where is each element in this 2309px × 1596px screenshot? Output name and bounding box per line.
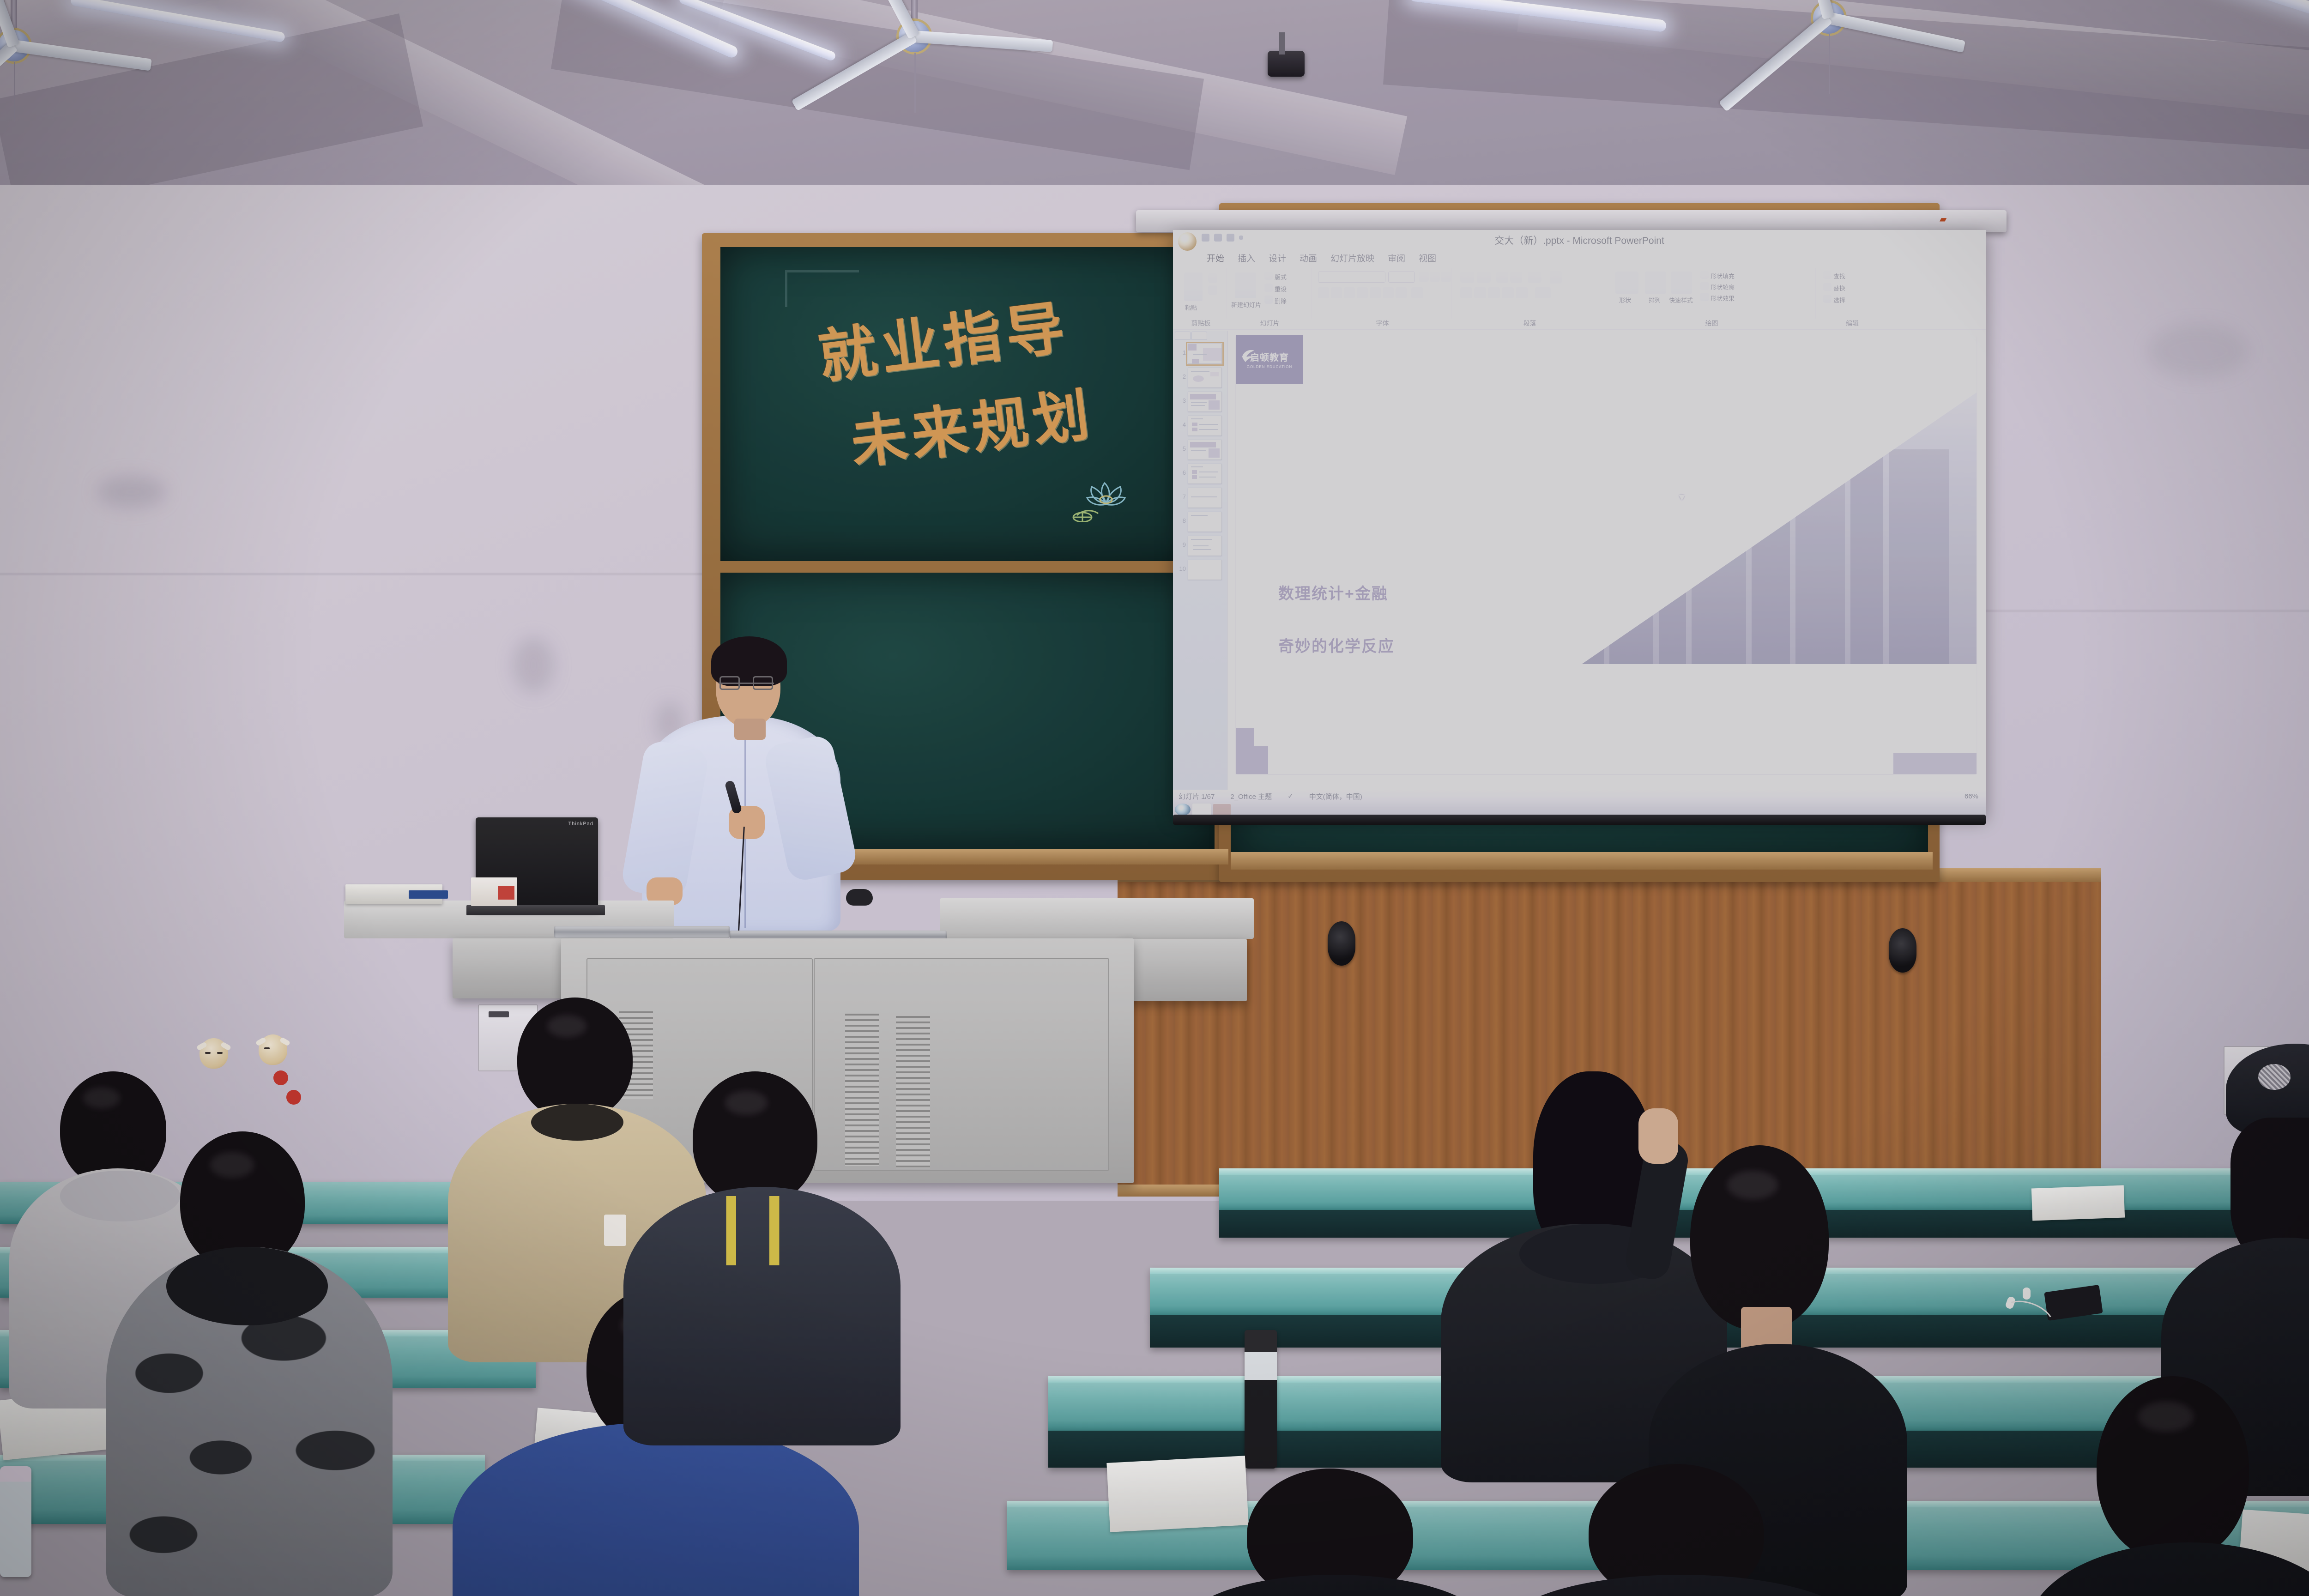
align-left-button[interactable]	[1460, 287, 1472, 298]
office-button[interactable]	[1177, 231, 1198, 252]
theme-name: 2_Office 主题	[1230, 792, 1272, 801]
find-label: 查找	[1833, 272, 1845, 280]
justify-button[interactable]	[1502, 287, 1514, 298]
windows-start-orb[interactable]	[1175, 804, 1191, 816]
slide-accent-block	[1893, 753, 1977, 774]
strikethrough-button[interactable]	[1357, 287, 1368, 298]
quick-styles-label: 快速样式	[1669, 296, 1693, 304]
group-label-editing: 编辑	[1818, 319, 1887, 328]
tissue-box-label	[498, 886, 514, 900]
projector-screen-logo: ▰	[1940, 213, 1946, 225]
raised-hand	[1638, 1108, 1678, 1164]
student-body-dark	[1182, 1575, 1487, 1596]
line-spacing-button[interactable]	[1528, 272, 1541, 283]
align-right-button[interactable]	[1488, 287, 1500, 298]
tab-review[interactable]: 审阅	[1382, 249, 1411, 267]
shadow-button[interactable]	[1370, 287, 1381, 298]
new-slide-label: 新建幻灯片	[1231, 300, 1261, 309]
select-label: 选择	[1833, 296, 1845, 304]
copy-icon[interactable]	[1208, 285, 1217, 295]
lanyard	[711, 1196, 794, 1265]
window-title: 交大（新）.pptx - Microsoft PowerPoint	[1494, 233, 1664, 247]
thumbnail-number: 10	[1176, 565, 1186, 572]
numbering-button[interactable]	[1477, 272, 1491, 283]
slide-logo-en: GOLDEN EDUCATION	[1247, 365, 1293, 369]
slide-counter: 幻灯片 1/67	[1179, 792, 1215, 801]
select-icon[interactable]	[1823, 295, 1831, 303]
projection-screen-weight-bar	[1173, 815, 1986, 825]
ribbon-group-font: 字体	[1313, 268, 1452, 319]
toy-ball	[286, 1090, 301, 1105]
layout-label: 版式	[1275, 272, 1287, 281]
lotus-chalk-drawing	[1071, 471, 1141, 522]
find-icon[interactable]	[1823, 271, 1831, 279]
hoodie-hood	[166, 1247, 328, 1325]
grow-font-icon[interactable]	[1419, 272, 1429, 282]
replace-label: 替换	[1833, 284, 1845, 292]
slide-thumbnail-3[interactable]	[1188, 392, 1222, 412]
group-label-slides: 幻灯片	[1228, 319, 1311, 328]
ceiling	[0, 0, 2309, 199]
slide-thumbnail-8[interactable]	[1188, 512, 1222, 532]
slide-thumbnail-6[interactable]	[1188, 464, 1222, 484]
replace-icon[interactable]	[1823, 283, 1831, 291]
tab-home[interactable]: 开始	[1201, 249, 1230, 267]
slide-heading-2: 奇妙的化学反应	[1278, 634, 1395, 656]
taskbar-item-explorer[interactable]	[1192, 804, 1211, 816]
cut-icon[interactable]	[1208, 273, 1217, 283]
new-slide-button[interactable]	[1235, 272, 1256, 298]
delete-icon[interactable]	[1264, 296, 1273, 304]
shrink-font-icon[interactable]	[1430, 272, 1440, 282]
tab-slides-thumbnails[interactable]	[1175, 332, 1191, 340]
quick-styles-button[interactable]	[1671, 272, 1692, 294]
bold-button[interactable]	[1318, 287, 1329, 298]
laptop-base	[466, 905, 605, 915]
jacket-badge	[604, 1215, 626, 1246]
lecture-hall-photo: 就业指导 未来规划 ▰ 交大（新）.pptx - Microsoft Power…	[0, 0, 2309, 1596]
shape-fill-label: 形状填充	[1711, 272, 1735, 280]
language-indicator[interactable]: 中文(简体，中国)	[1309, 792, 1362, 801]
paper-handout	[1106, 1456, 1248, 1532]
italic-button[interactable]	[1331, 287, 1342, 298]
bullets-button[interactable]	[1460, 272, 1474, 283]
group-label-paragraph: 段落	[1454, 319, 1606, 328]
save-icon[interactable]	[1202, 234, 1209, 242]
thumbnail-number: 3	[1176, 397, 1186, 404]
ribbon-tab-strip[interactable]: 开始 插入 设计 动画 幻灯片放映 审阅 视图	[1201, 249, 1442, 267]
ribbon-group-clipboard: 粘贴 剪贴板	[1176, 268, 1227, 319]
taskbar-item-powerpoint[interactable]	[1213, 804, 1231, 816]
podium-right-column	[1122, 939, 1247, 1001]
thumbnail-number: 9	[1176, 541, 1186, 548]
thumbnail-number: 6	[1176, 469, 1186, 476]
ribbon-group-slides: 新建幻灯片 版式 重设 删除 幻灯片	[1228, 268, 1312, 319]
delete-label: 删除	[1275, 296, 1287, 305]
podium-vent	[845, 1014, 879, 1166]
tab-outline[interactable]	[1191, 332, 1207, 340]
increase-indent-button[interactable]	[1510, 272, 1522, 283]
layout-icon[interactable]	[1264, 272, 1273, 280]
slide-thumbnail-9[interactable]	[1188, 536, 1222, 556]
slide-editing-stage[interactable]: 启顿教育 GOLDEN EDUCATION 数理统计+金融 奇妙的化学反应	[1228, 331, 1984, 790]
group-label-font: 字体	[1313, 319, 1451, 328]
paste-label: 粘贴	[1185, 303, 1197, 312]
slide-accent-block	[1236, 728, 1254, 746]
student-body-blue-jacket	[453, 1422, 859, 1596]
text-direction-button[interactable]	[1550, 271, 1562, 284]
tab-insert[interactable]: 插入	[1232, 249, 1261, 267]
glasses-lens	[753, 676, 773, 690]
tab-design[interactable]: 设计	[1263, 249, 1292, 267]
plush-dragon-toy	[199, 1038, 228, 1069]
zoom-level[interactable]: 66%	[1964, 792, 1978, 800]
plush-dragon-toy	[259, 1034, 287, 1065]
current-slide[interactable]: 启顿教育 GOLDEN EDUCATION 数理统计+金融 奇妙的化学反应	[1236, 335, 1977, 774]
font-family-combo[interactable]	[1318, 272, 1385, 283]
slide-thumbnail-2[interactable]	[1188, 368, 1222, 388]
thumbnail-number: 7	[1176, 493, 1186, 500]
jacket-collar	[531, 1104, 623, 1141]
arrange-button[interactable]	[1645, 272, 1666, 294]
shape-effects-icon[interactable]	[1700, 293, 1709, 301]
projector-mount	[1279, 32, 1285, 54]
underline-button[interactable]	[1344, 287, 1355, 298]
slide-thumbnail-5[interactable]	[1188, 440, 1222, 460]
wall-speaker	[1889, 928, 1916, 973]
convert-smartart-button[interactable]	[1535, 287, 1551, 298]
ceiling-projector	[1268, 51, 1305, 77]
undo-icon[interactable]	[1214, 234, 1222, 242]
slide-thumbnail-10[interactable]	[1188, 560, 1222, 580]
podium-right-shelf	[940, 898, 1254, 939]
slide-accent-block	[1236, 746, 1268, 774]
podium-side-column	[453, 938, 568, 998]
change-case-button[interactable]	[1396, 287, 1407, 298]
tab-slideshow[interactable]: 幻灯片放映	[1324, 249, 1380, 267]
podium-vent	[896, 1016, 930, 1168]
align-center-button[interactable]	[1474, 287, 1486, 298]
toy-ball	[273, 1070, 288, 1085]
thumbnail-number: 2	[1176, 373, 1186, 380]
chalk-scribble	[785, 270, 859, 307]
character-spacing-button[interactable]	[1383, 287, 1394, 298]
decrease-indent-button[interactable]	[1496, 272, 1508, 283]
shape-outline-icon[interactable]	[1700, 282, 1709, 290]
thermos-flask	[1245, 1330, 1277, 1469]
group-label-drawing: 绘图	[1608, 319, 1815, 328]
laptop-brand-logo: ThinkPad	[568, 821, 593, 827]
shape-outline-label: 形状轮廓	[1711, 283, 1735, 291]
hoodie-hood	[60, 1171, 180, 1221]
slide-thumbnail-pane[interactable]: 1 2 3	[1173, 331, 1227, 790]
ribbon-group-paragraph: 段落	[1454, 268, 1606, 319]
shapes-label: 形状	[1619, 296, 1631, 304]
thumbnail-number: 1	[1176, 349, 1186, 356]
customize-icon[interactable]	[1239, 236, 1243, 240]
chalk-tray	[1231, 852, 1933, 870]
font-color-button[interactable]	[1411, 287, 1423, 298]
slide-thumbnail-1[interactable]	[1188, 344, 1222, 364]
arrange-label: 排列	[1649, 296, 1661, 304]
redo-icon[interactable]	[1227, 234, 1234, 242]
wall-speaker	[1328, 921, 1355, 966]
drawer-slide-rail	[554, 926, 730, 938]
group-label-clipboard: 剪贴板	[1176, 319, 1226, 328]
thumbnail-number: 8	[1176, 517, 1186, 524]
projection-screen-case	[1136, 210, 2007, 232]
glasses-lens	[719, 676, 740, 690]
thumbnail-number: 4	[1176, 421, 1186, 428]
thumbnail-number: 5	[1176, 445, 1186, 452]
font-size-combo[interactable]	[1388, 272, 1415, 283]
columns-button[interactable]	[1516, 287, 1528, 298]
tab-animations[interactable]: 动画	[1294, 249, 1323, 267]
paper-handout	[2031, 1185, 2125, 1221]
beanie-patch	[2258, 1064, 2291, 1090]
quick-access-toolbar[interactable]	[1202, 234, 1243, 242]
spell-check-icon[interactable]: ✓	[1287, 792, 1294, 800]
slide-thumbnail-4[interactable]	[1188, 416, 1222, 436]
slide-logo: 启顿教育 GOLDEN EDUCATION	[1236, 335, 1303, 384]
reset-label: 重设	[1275, 284, 1287, 293]
brand-mark-icon	[1240, 347, 1256, 363]
water-bottle	[0, 1466, 31, 1577]
powerpoint-title-bar: 交大（新）.pptx - Microsoft PowerPoint	[1173, 230, 1986, 250]
projection-screen: 交大（新）.pptx - Microsoft PowerPoint 开始 插入 …	[1173, 230, 1986, 816]
ribbon-group-editing: 查找 替换 选择 编辑	[1818, 268, 1887, 319]
paste-button[interactable]	[1184, 272, 1203, 301]
book-spine	[409, 890, 448, 899]
shape-effects-label: 形状效果	[1711, 294, 1735, 302]
earbud	[2023, 1288, 2031, 1300]
ribbon: 粘贴 剪贴板 新建幻灯片 版式 重设 删除 幻灯片	[1173, 266, 1986, 330]
tab-view[interactable]: 视图	[1413, 249, 1442, 267]
reset-icon[interactable]	[1264, 284, 1273, 292]
status-bar: 幻灯片 1/67 2_Office 主题 ✓ 中文(简体，中国) 66%	[1173, 790, 1986, 803]
slide-thumbnail-7[interactable]	[1188, 488, 1222, 508]
computer-mouse	[846, 889, 873, 906]
slide-heading-1: 数理统计+金融	[1278, 581, 1388, 604]
clear-format-icon[interactable]	[1441, 272, 1451, 282]
shapes-gallery[interactable]	[1615, 272, 1638, 294]
shape-fill-icon[interactable]	[1700, 271, 1709, 279]
powerpoint-window: 交大（新）.pptx - Microsoft PowerPoint 开始 插入 …	[1173, 230, 1986, 816]
ribbon-group-drawing: 形状 排列 快速样式 形状填充 形状轮廓 形状效果 绘图	[1608, 268, 1816, 319]
outline-slides-tabs[interactable]	[1175, 332, 1207, 340]
